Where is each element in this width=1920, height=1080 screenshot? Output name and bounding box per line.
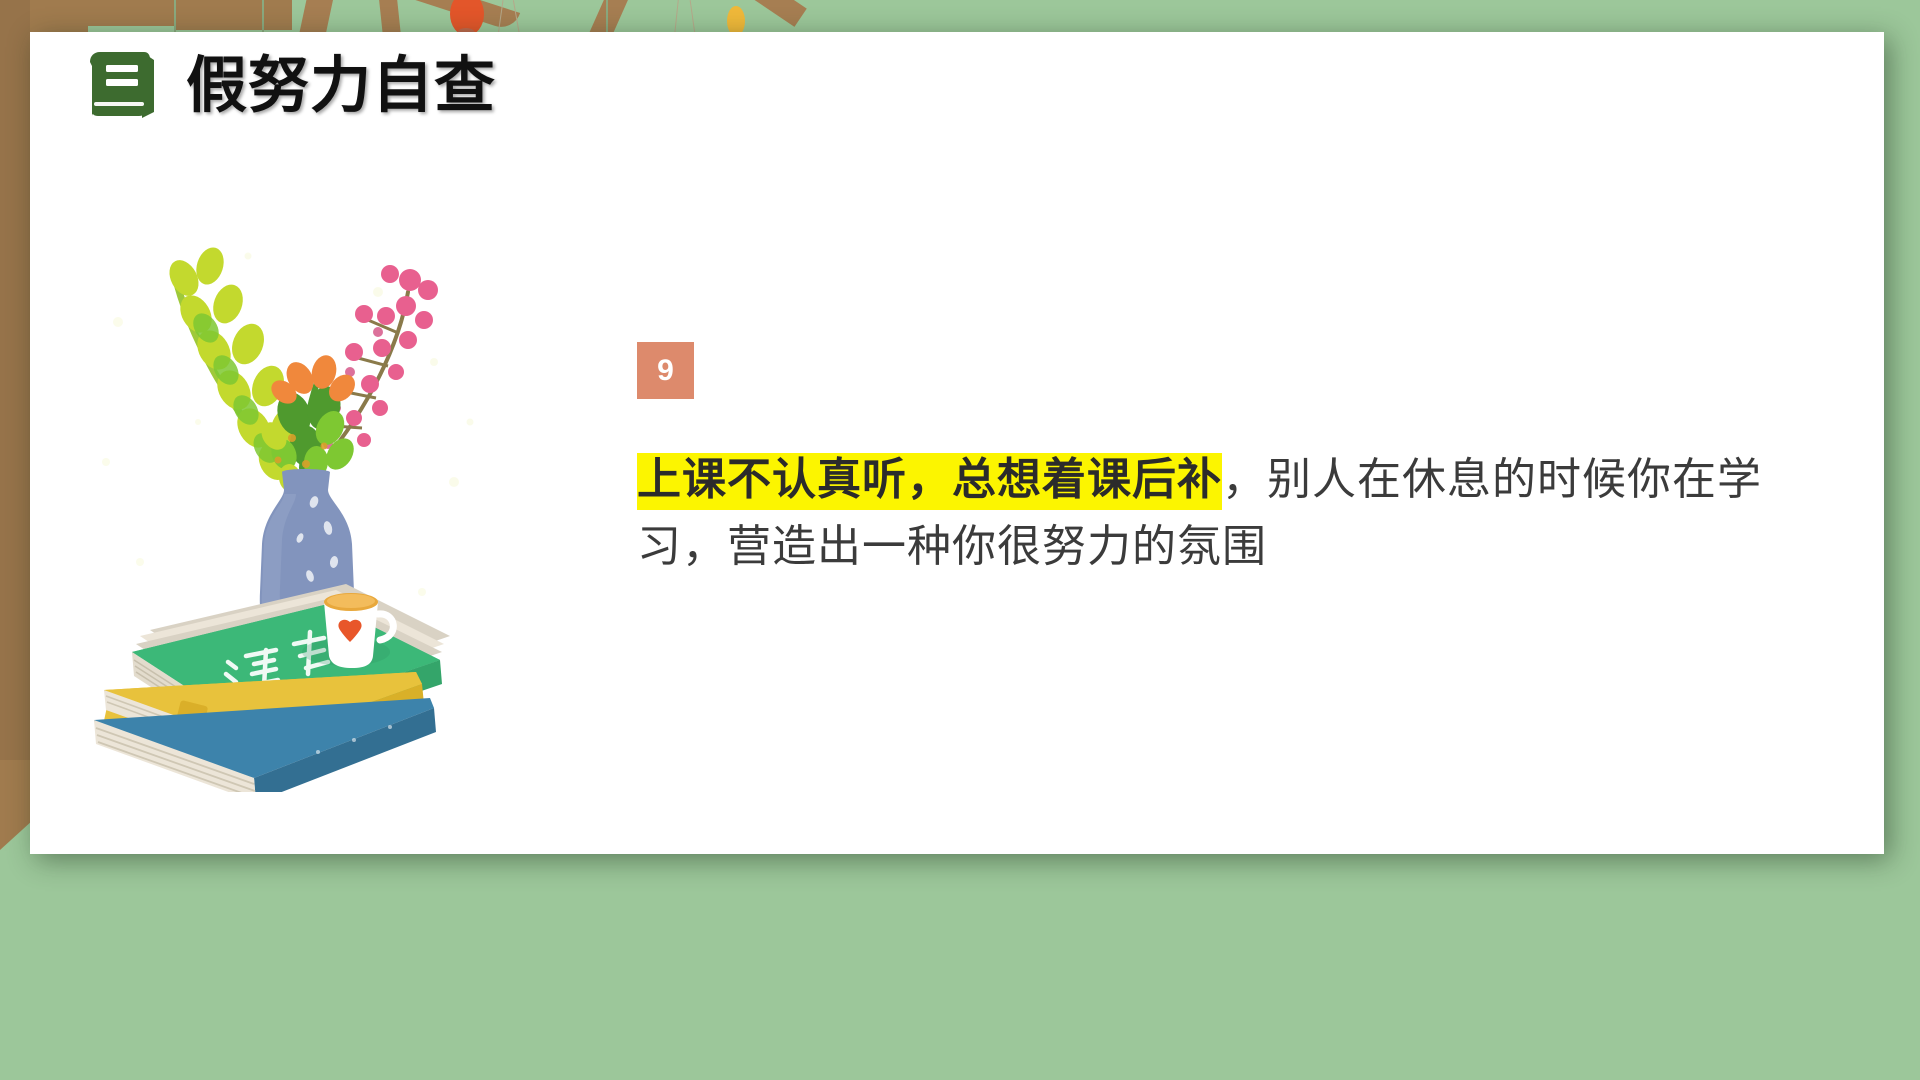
slide-root: 假努力自查 xyxy=(0,0,1920,1080)
brown-top-block-b xyxy=(176,0,292,30)
brown-top-block-a xyxy=(88,0,174,26)
branch-shape-5 xyxy=(703,0,806,27)
thread-3 xyxy=(674,0,679,34)
item-number-badge: 9 xyxy=(637,342,694,399)
thread-4 xyxy=(690,0,696,34)
content-block: 9 上课不认真听，总想着课后补，别人在休息的时候你在学习，营造出一种你很努力的氛… xyxy=(637,342,1797,581)
vase-flowers-on-books-illustration xyxy=(78,232,498,792)
hairline-2 xyxy=(262,0,264,34)
brown-left-band-inner xyxy=(0,0,30,760)
highlighted-phrase: 上课不认真听，总想着课后补 xyxy=(637,453,1222,510)
hairline-1 xyxy=(174,0,176,34)
book-icon xyxy=(82,48,160,122)
body-paragraph: 上课不认真听，总想着课后补，别人在休息的时候你在学习，营造出一种你很努力的氛围 xyxy=(637,447,1797,581)
hairline-3 xyxy=(606,0,608,34)
branch-shape-2 xyxy=(377,0,400,35)
slide-card: 假努力自查 xyxy=(30,32,1884,854)
page-title: 假努力自查 xyxy=(186,55,496,116)
slide-header: 假努力自查 xyxy=(82,48,496,122)
